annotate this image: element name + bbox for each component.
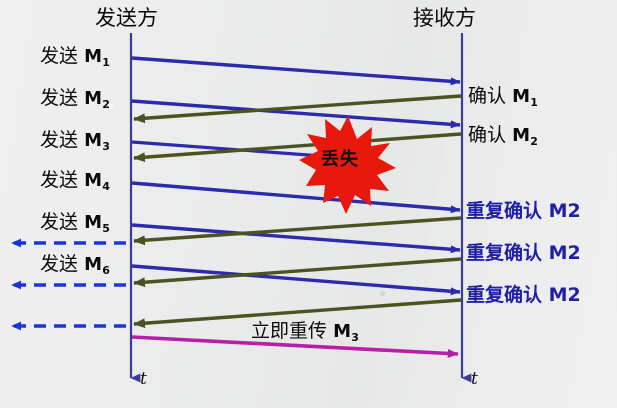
sender-label-m3: 发送 M3 — [40, 131, 110, 150]
arrow-send-m4 — [132, 183, 460, 210]
sender-label-m2: 发送 M2 — [40, 89, 110, 108]
receiver-axis-label: t — [471, 371, 478, 388]
sender-label-m5-msg: M5 — [84, 212, 110, 233]
sender-label-m2-msg: M2 — [84, 88, 110, 109]
receiver-label-dup-ack-1: 重复确认 M2 — [466, 202, 581, 221]
sender-label-m1: 发送 M1 — [40, 47, 110, 66]
sender-label-m1-msg: M1 — [84, 46, 110, 67]
receiver-label-ack-m1: 确认 M1 — [468, 87, 538, 106]
receiver-label-ack-m2: 确认 M2 — [468, 126, 538, 145]
sender-label-m2-text: 发送 — [40, 87, 78, 109]
receiver-label-dup-ack-3: 重复确认 M2 — [466, 286, 581, 305]
sender-label-m4-text: 发送 — [40, 169, 78, 191]
sender-label-m1-text: 发送 — [40, 45, 78, 67]
protocol-sequence-diagram: 发送方 接收方 发送 M1 发送 M2 发送 M3 发送 M4 发送 M5 发送 — [0, 0, 617, 408]
receiver-label-ack-m1-msg: M1 — [512, 86, 538, 107]
receiver-title: 接收方 — [413, 8, 476, 29]
retransmit-label: 立即重传 M3 — [251, 322, 359, 341]
sender-label-m4-msg: M4 — [84, 170, 110, 191]
sender-label-m6-text: 发送 — [40, 253, 78, 275]
receiver-label-ack-m2-msg: M2 — [512, 125, 538, 146]
sender-title: 发送方 — [95, 8, 158, 29]
sender-label-m4: 发送 M4 — [40, 171, 110, 190]
loss-marker-label: 丢失 — [321, 145, 359, 171]
arrow-send-m3-lost — [132, 142, 322, 156]
retransmit-label-msg: M3 — [333, 321, 359, 342]
sender-label-m3-text: 发送 — [40, 129, 78, 151]
sender-axis-label: t — [140, 371, 147, 388]
arrow-ack-m1 — [134, 96, 461, 119]
sender-label-m6: 发送 M6 — [40, 255, 110, 274]
receiver-label-dup-ack-2: 重复确认 M2 — [466, 244, 581, 263]
sender-label-m5: 发送 M5 — [40, 213, 110, 232]
receiver-label-ack-m2-text: 确认 — [468, 124, 506, 146]
receiver-label-ack-m1-text: 确认 — [468, 85, 506, 107]
sender-label-m5-text: 发送 — [40, 211, 78, 233]
sender-label-m6-msg: M6 — [84, 254, 110, 275]
sender-label-m3-msg: M3 — [84, 130, 110, 151]
retransmit-label-text: 立即重传 — [251, 320, 327, 342]
arrow-send-m1 — [132, 58, 460, 82]
arrow-send-m2 — [132, 101, 460, 125]
